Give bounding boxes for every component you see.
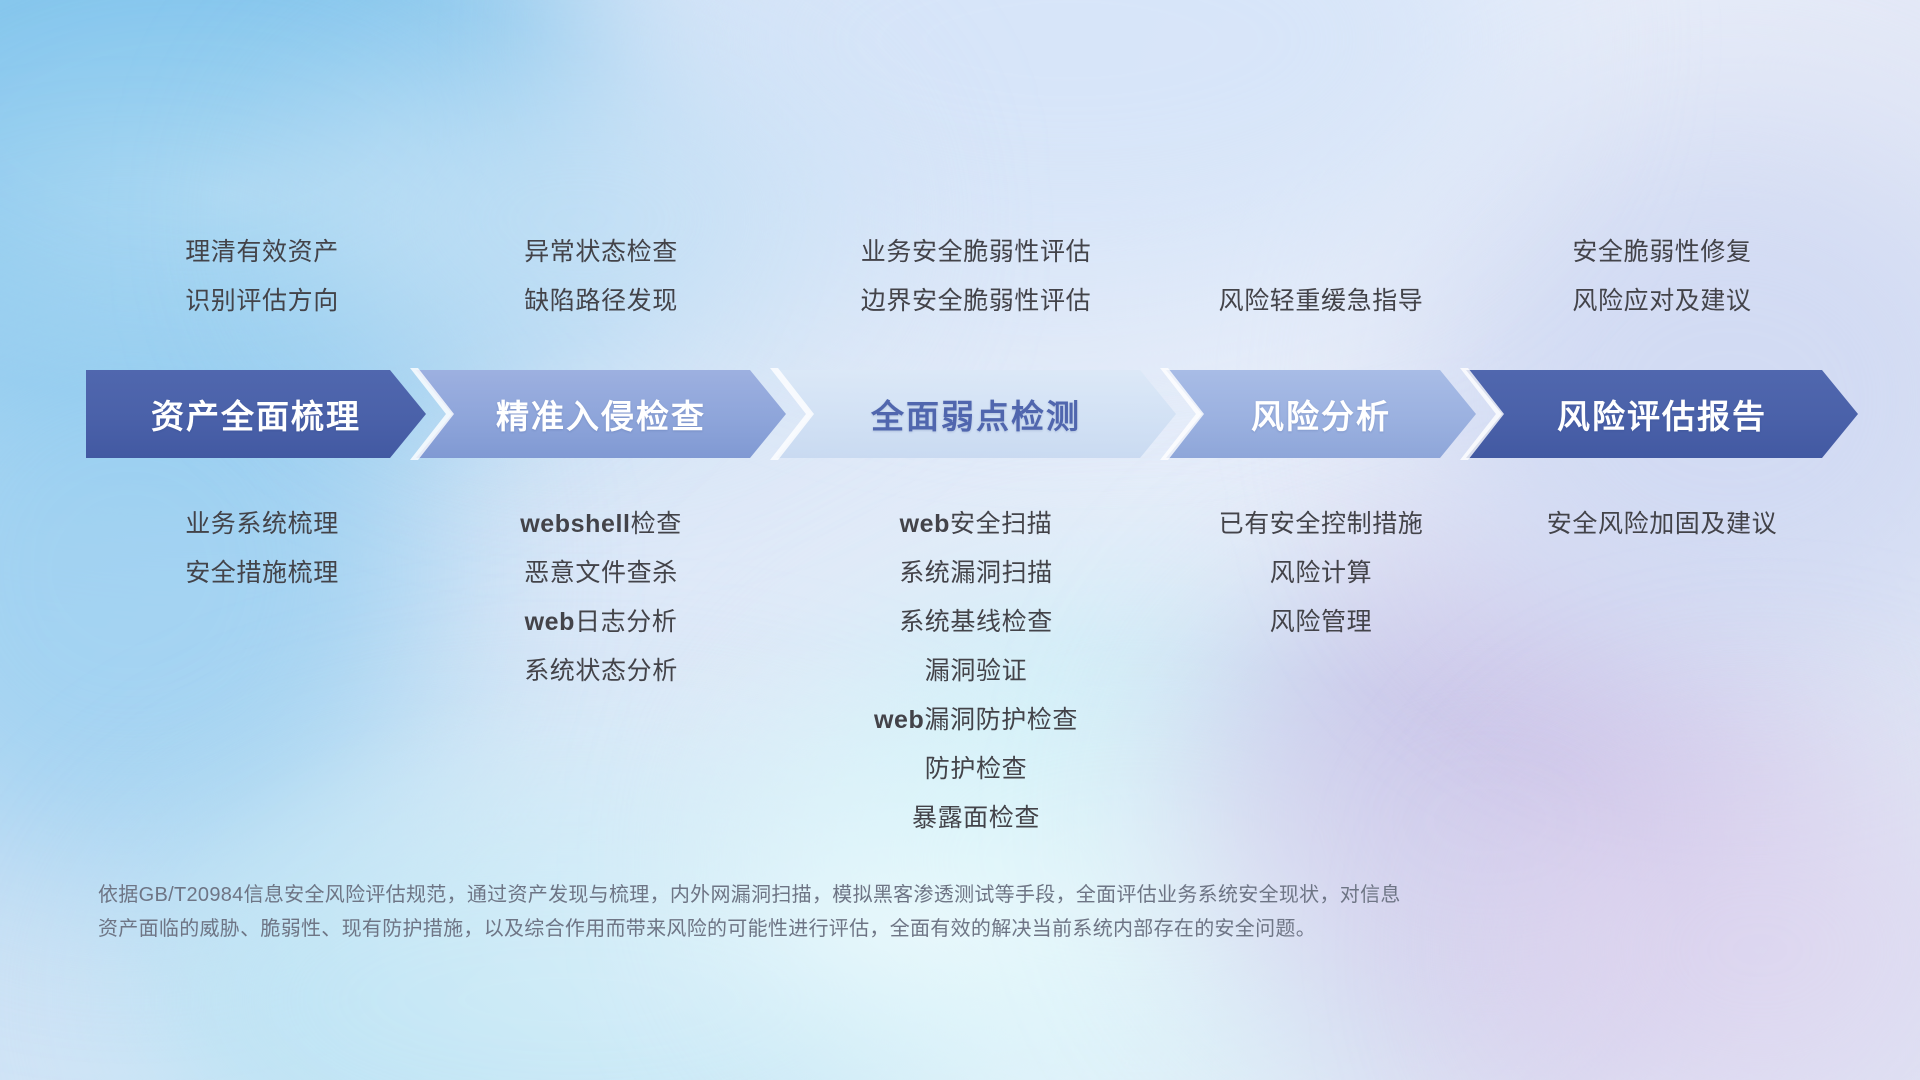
process-stage-label: 风险评估报告 bbox=[1557, 390, 1767, 438]
process-stage-asset-inventory[interactable]: 资产全面梳理 bbox=[86, 370, 426, 458]
stage-item: 防护检查 bbox=[736, 745, 1216, 794]
process-stage-label: 全面弱点检测 bbox=[871, 390, 1081, 438]
process-stage-label: 风险分析 bbox=[1251, 390, 1391, 438]
stage-item: 安全风险加固及建议 bbox=[1422, 500, 1902, 549]
stage-top-column-risk-report: 安全脆弱性修复风险应对及建议 bbox=[1422, 228, 1902, 326]
process-stage-risk-analysis[interactable]: 风险分析 bbox=[1166, 370, 1476, 458]
stage-item: 风险应对及建议 bbox=[1422, 277, 1902, 326]
slide-canvas: 理清有效资产识别评估方向异常状态检查缺陷路径发现业务安全脆弱性评估边界安全脆弱性… bbox=[0, 0, 1920, 1080]
footer-line-2: 资产面临的威胁、脆弱性、现有防护措施，以及综合作用而带来风险的可能性进行评估，全… bbox=[98, 912, 1638, 946]
process-stage-label: 精准入侵检查 bbox=[496, 390, 706, 438]
stage-item: 风险计算 bbox=[1081, 549, 1561, 598]
stage-item: 业务安全脆弱性评估 bbox=[736, 228, 1216, 277]
stage-top-items-row: 理清有效资产识别评估方向异常状态检查缺陷路径发现业务安全脆弱性评估边界安全脆弱性… bbox=[0, 228, 1920, 338]
process-stage-risk-report[interactable]: 风险评估报告 bbox=[1466, 370, 1858, 458]
stage-bottom-column-risk-report: 安全风险加固及建议 bbox=[1422, 500, 1902, 549]
stage-item: web漏洞防护检查 bbox=[736, 696, 1216, 745]
stage-item: 漏洞验证 bbox=[736, 647, 1216, 696]
process-stage-weakness-detection[interactable]: 全面弱点检测 bbox=[776, 370, 1176, 458]
stage-item: 暴露面检查 bbox=[736, 794, 1216, 843]
process-stage-intrusion-check[interactable]: 精准入侵检查 bbox=[416, 370, 786, 458]
stage-item: 安全脆弱性修复 bbox=[1422, 228, 1902, 277]
stage-item: 风险管理 bbox=[1081, 598, 1561, 647]
footer-line-1: 依据GB/T20984信息安全风险评估规范，通过资产发现与梳理，内外网漏洞扫描，… bbox=[98, 878, 1638, 912]
footer-description: 依据GB/T20984信息安全风险评估规范，通过资产发现与梳理，内外网漏洞扫描，… bbox=[98, 878, 1638, 946]
process-arrow-ribbon: 资产全面梳理精准入侵检查全面弱点检测风险分析风险评估报告 bbox=[86, 370, 1838, 458]
process-stage-label: 资产全面梳理 bbox=[151, 390, 361, 438]
